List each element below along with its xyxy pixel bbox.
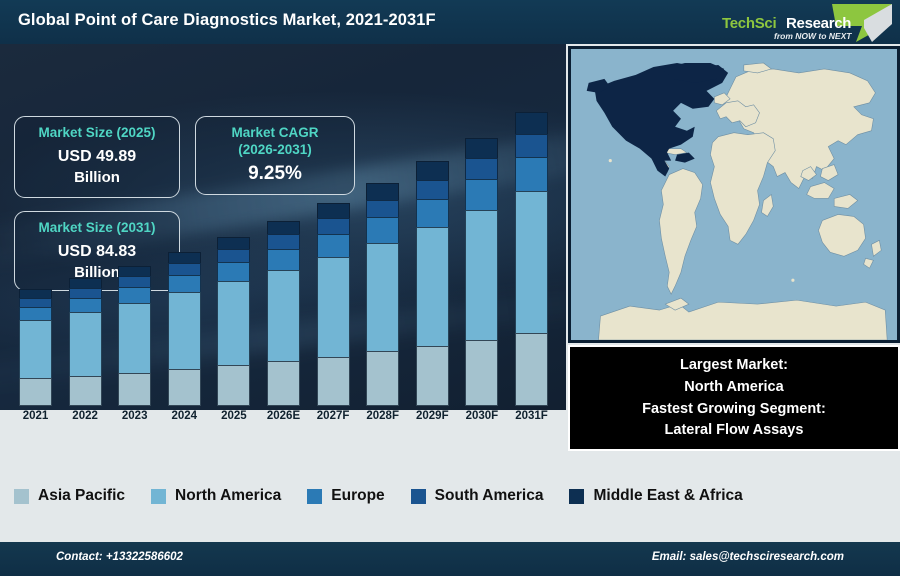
- contact-email: Email: sales@techsciresearch.com: [652, 551, 844, 563]
- bar-segment-north-america: [317, 257, 350, 357]
- x-axis-labels: 202120222023202420252026E2027F2028F2029F…: [0, 410, 566, 430]
- bar-segment-asia-pacific: [19, 378, 52, 406]
- bar-segment-middle-east-africa: [19, 289, 52, 297]
- bar-segment-south-america: [118, 276, 151, 287]
- bar-column-2021: [19, 289, 52, 406]
- bar-segment-europe: [118, 287, 151, 303]
- legend-label-europe: Europe: [331, 487, 384, 505]
- bar-segment-middle-east-africa: [118, 266, 151, 276]
- header-bar: Global Point of Care Diagnostics Market,…: [0, 0, 900, 44]
- bar-column-2029f: [416, 161, 449, 406]
- bar-segment-asia-pacific: [465, 340, 498, 406]
- bar-segment-north-america: [217, 281, 250, 365]
- bar-segment-asia-pacific: [267, 361, 300, 406]
- bar-segment-north-america: [465, 210, 498, 340]
- infographic-page: Global Point of Care Diagnostics Market,…: [0, 0, 900, 576]
- bar-segment-europe: [19, 307, 52, 320]
- bar-column-2022: [69, 278, 102, 406]
- bar-segment-middle-east-africa: [416, 161, 449, 180]
- bar-segment-asia-pacific: [69, 376, 102, 406]
- legend-label-asia-pacific: Asia Pacific: [38, 487, 125, 505]
- world-map: [571, 49, 897, 340]
- legend-swatch-asia-pacific: [14, 489, 29, 504]
- bar-segment-south-america: [217, 249, 250, 262]
- x-axis-label-2027f: 2027F: [305, 410, 361, 422]
- legend-item-asia-pacific[interactable]: Asia Pacific: [14, 487, 125, 505]
- legend-swatch-north-america: [151, 489, 166, 504]
- bar-segment-asia-pacific: [217, 365, 250, 406]
- callout-largest-market-label: Largest Market:: [680, 355, 788, 376]
- legend-swatch-middle-east-africa: [569, 489, 584, 504]
- bar-column-2025: [217, 237, 250, 406]
- bar-segment-middle-east-africa: [69, 278, 102, 287]
- bar-column-2023: [118, 266, 151, 406]
- legend-item-south-america[interactable]: South America: [411, 487, 544, 505]
- bar-segment-south-america: [317, 218, 350, 234]
- bar-column-2024: [168, 252, 201, 406]
- bar-column-2028f: [366, 183, 399, 406]
- bar-segment-north-america: [267, 270, 300, 361]
- svg-text:from NOW to NEXT: from NOW to NEXT: [774, 31, 852, 41]
- bar-segment-middle-east-africa: [267, 221, 300, 235]
- bar-segment-asia-pacific: [168, 369, 201, 406]
- bar-segment-south-america: [19, 298, 52, 307]
- bar-segment-north-america: [416, 227, 449, 346]
- bar-column-2031f: [515, 112, 548, 406]
- stacked-bar-plot: [0, 44, 566, 452]
- bar-segment-north-america: [168, 292, 201, 369]
- chart-panel: Market Size (2025) USD 49.89 Billion Mar…: [0, 44, 566, 452]
- svg-text:TechSci: TechSci: [722, 15, 776, 32]
- chart-legend: Asia PacificNorth AmericaEuropeSouth Ame…: [0, 452, 900, 540]
- bar-column-2027f: [317, 203, 350, 406]
- bar-segment-south-america: [465, 158, 498, 179]
- bar-segment-europe: [465, 179, 498, 210]
- key-findings-callout: Largest Market: North America Fastest Gr…: [568, 345, 900, 451]
- techsci-research-logo: TechSci Research from NOW to NEXT: [714, 2, 894, 44]
- bar-segment-north-america: [69, 312, 102, 376]
- bar-segment-north-america: [19, 320, 52, 379]
- legend-item-north-america[interactable]: North America: [151, 487, 281, 505]
- bar-segment-middle-east-africa: [465, 138, 498, 158]
- bar-segment-europe: [366, 217, 399, 242]
- bar-segment-middle-east-africa: [317, 203, 350, 218]
- callout-largest-market-value: North America: [684, 377, 783, 398]
- legend-swatch-south-america: [411, 489, 426, 504]
- bar-segment-south-america: [366, 200, 399, 217]
- bar-segment-north-america: [118, 303, 151, 373]
- bar-segment-asia-pacific: [317, 357, 350, 406]
- x-axis-label-2023: 2023: [107, 410, 163, 422]
- bar-segment-asia-pacific: [366, 351, 399, 406]
- legend-label-south-america: South America: [435, 487, 544, 505]
- bar-segment-asia-pacific: [515, 333, 548, 406]
- bar-segment-europe: [416, 199, 449, 227]
- bar-column-2026e: [267, 221, 300, 406]
- bar-segment-south-america: [416, 180, 449, 199]
- bar-segment-middle-east-africa: [366, 183, 399, 200]
- bar-segment-middle-east-africa: [515, 112, 548, 135]
- legend-item-middle-east-africa[interactable]: Middle East & Africa: [569, 487, 742, 505]
- x-axis-label-2030f: 2030F: [454, 410, 510, 422]
- legend-label-middle-east-africa: Middle East & Africa: [593, 487, 742, 505]
- legend-swatch-europe: [307, 489, 322, 504]
- legend-item-europe[interactable]: Europe: [307, 487, 384, 505]
- bar-segment-south-america: [168, 263, 201, 275]
- callout-fastest-segment-value: Lateral Flow Assays: [665, 420, 804, 441]
- bar-segment-europe: [515, 157, 548, 191]
- bar-segment-asia-pacific: [416, 346, 449, 406]
- bar-segment-europe: [267, 249, 300, 270]
- legend-label-north-america: North America: [175, 487, 281, 505]
- bar-segment-south-america: [267, 234, 300, 248]
- bar-column-2030f: [465, 138, 498, 407]
- contact-phone: Contact: +13322586602: [56, 551, 183, 563]
- x-axis-label-2026e: 2026E: [256, 410, 312, 422]
- bar-segment-south-america: [515, 134, 548, 157]
- x-axis-label-2031f: 2031F: [504, 410, 560, 422]
- bar-segment-south-america: [69, 288, 102, 298]
- bar-segment-asia-pacific: [118, 373, 151, 406]
- x-axis-label-2024: 2024: [156, 410, 212, 422]
- bar-segment-europe: [168, 275, 201, 292]
- x-axis-label-2025: 2025: [206, 410, 262, 422]
- footer-bar: Contact: +13322586602 Email: sales@techs…: [0, 542, 900, 576]
- bar-segment-europe: [69, 298, 102, 312]
- x-axis-label-2022: 2022: [57, 410, 113, 422]
- bar-segment-middle-east-africa: [217, 237, 250, 250]
- x-axis-label-2021: 2021: [8, 410, 64, 422]
- bar-segment-europe: [317, 234, 350, 257]
- world-map-panel: [568, 46, 900, 343]
- bar-segment-middle-east-africa: [168, 252, 201, 263]
- bar-segment-europe: [217, 262, 250, 281]
- callout-fastest-segment-label: Fastest Growing Segment:: [642, 399, 826, 420]
- svg-text:Research: Research: [786, 15, 851, 32]
- x-axis-label-2028f: 2028F: [355, 410, 411, 422]
- page-title: Global Point of Care Diagnostics Market,…: [18, 11, 436, 30]
- bar-segment-north-america: [366, 243, 399, 352]
- x-axis-label-2029f: 2029F: [404, 410, 460, 422]
- bar-segment-north-america: [515, 191, 548, 333]
